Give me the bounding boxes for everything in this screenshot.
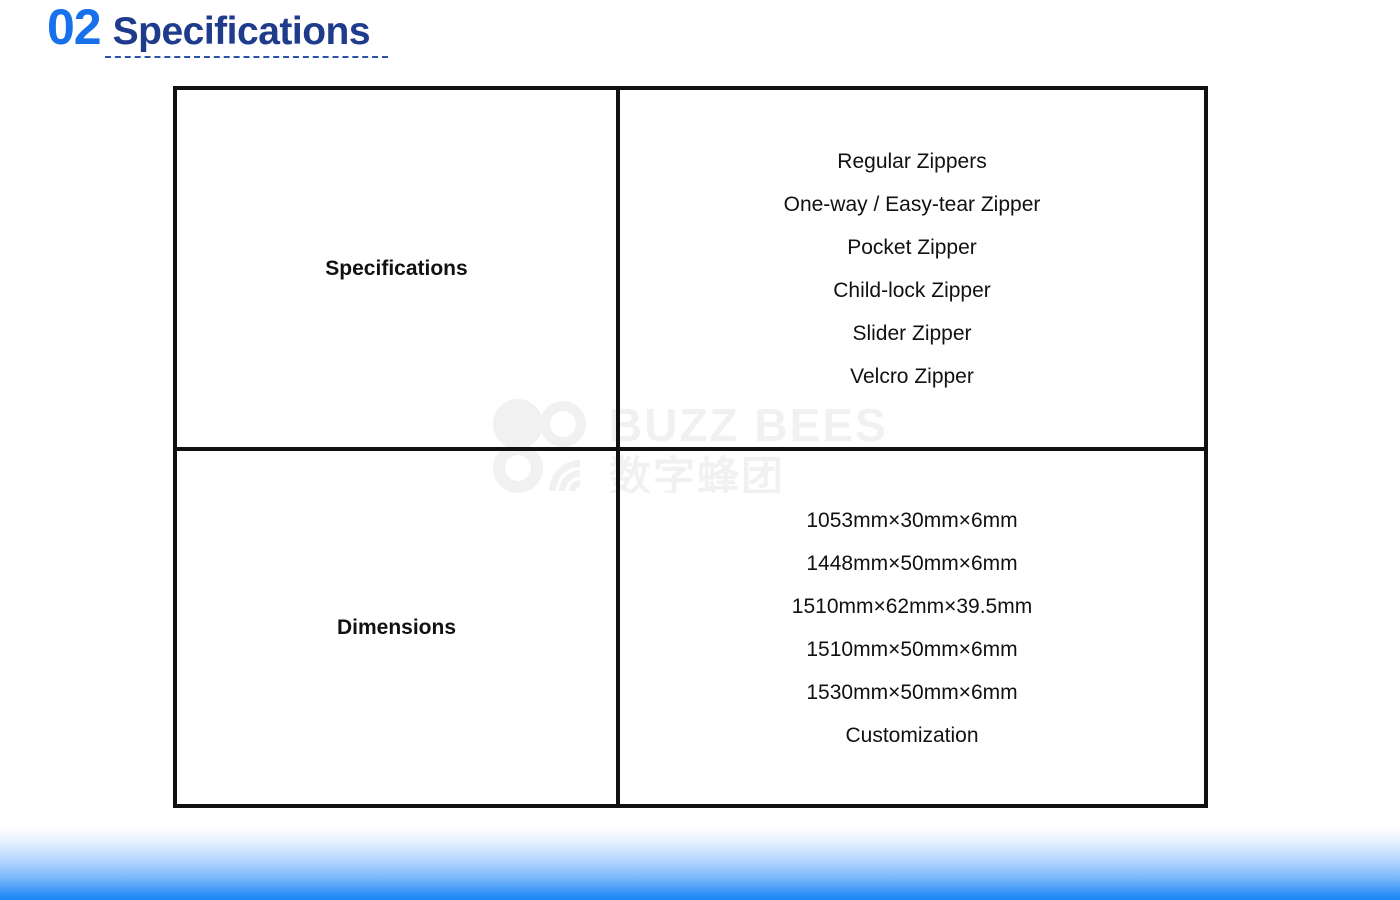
row-values-dimensions: 1053mm×30mm×6mm 1448mm×50mm×6mm 1510mm×6… bbox=[620, 451, 1204, 804]
list-item: Customization bbox=[845, 714, 978, 757]
list-item: One-way / Easy-tear Zipper bbox=[784, 183, 1041, 226]
row-values-specifications: Regular Zippers One-way / Easy-tear Zipp… bbox=[620, 90, 1204, 447]
list-item: Velcro Zipper bbox=[850, 355, 974, 398]
section-number: 02 bbox=[47, 2, 101, 52]
specifications-table: Specifications Regular Zippers One-way /… bbox=[173, 86, 1208, 808]
list-item: 1448mm×50mm×6mm bbox=[806, 542, 1017, 585]
section-title: Specifications bbox=[113, 10, 370, 53]
section-title-wrap: Specifications bbox=[113, 12, 370, 51]
title-underline-decoration bbox=[105, 56, 388, 58]
page-title: 02 Specifications bbox=[47, 2, 370, 52]
row-label-specifications: Specifications bbox=[177, 90, 620, 447]
list-item: 1053mm×30mm×6mm bbox=[806, 499, 1017, 542]
list-item: 1530mm×50mm×6mm bbox=[806, 671, 1017, 714]
footer-gradient-band bbox=[0, 815, 1400, 900]
list-item: Pocket Zipper bbox=[847, 226, 977, 269]
list-item: Slider Zipper bbox=[852, 312, 971, 355]
table-row: Specifications Regular Zippers One-way /… bbox=[177, 90, 1204, 451]
row-label-dimensions: Dimensions bbox=[177, 451, 620, 804]
list-item: Child-lock Zipper bbox=[833, 269, 991, 312]
list-item: Regular Zippers bbox=[837, 140, 986, 183]
list-item: 1510mm×62mm×39.5mm bbox=[792, 585, 1032, 628]
table-row: Dimensions 1053mm×30mm×6mm 1448mm×50mm×6… bbox=[177, 451, 1204, 804]
list-item: 1510mm×50mm×6mm bbox=[806, 628, 1017, 671]
